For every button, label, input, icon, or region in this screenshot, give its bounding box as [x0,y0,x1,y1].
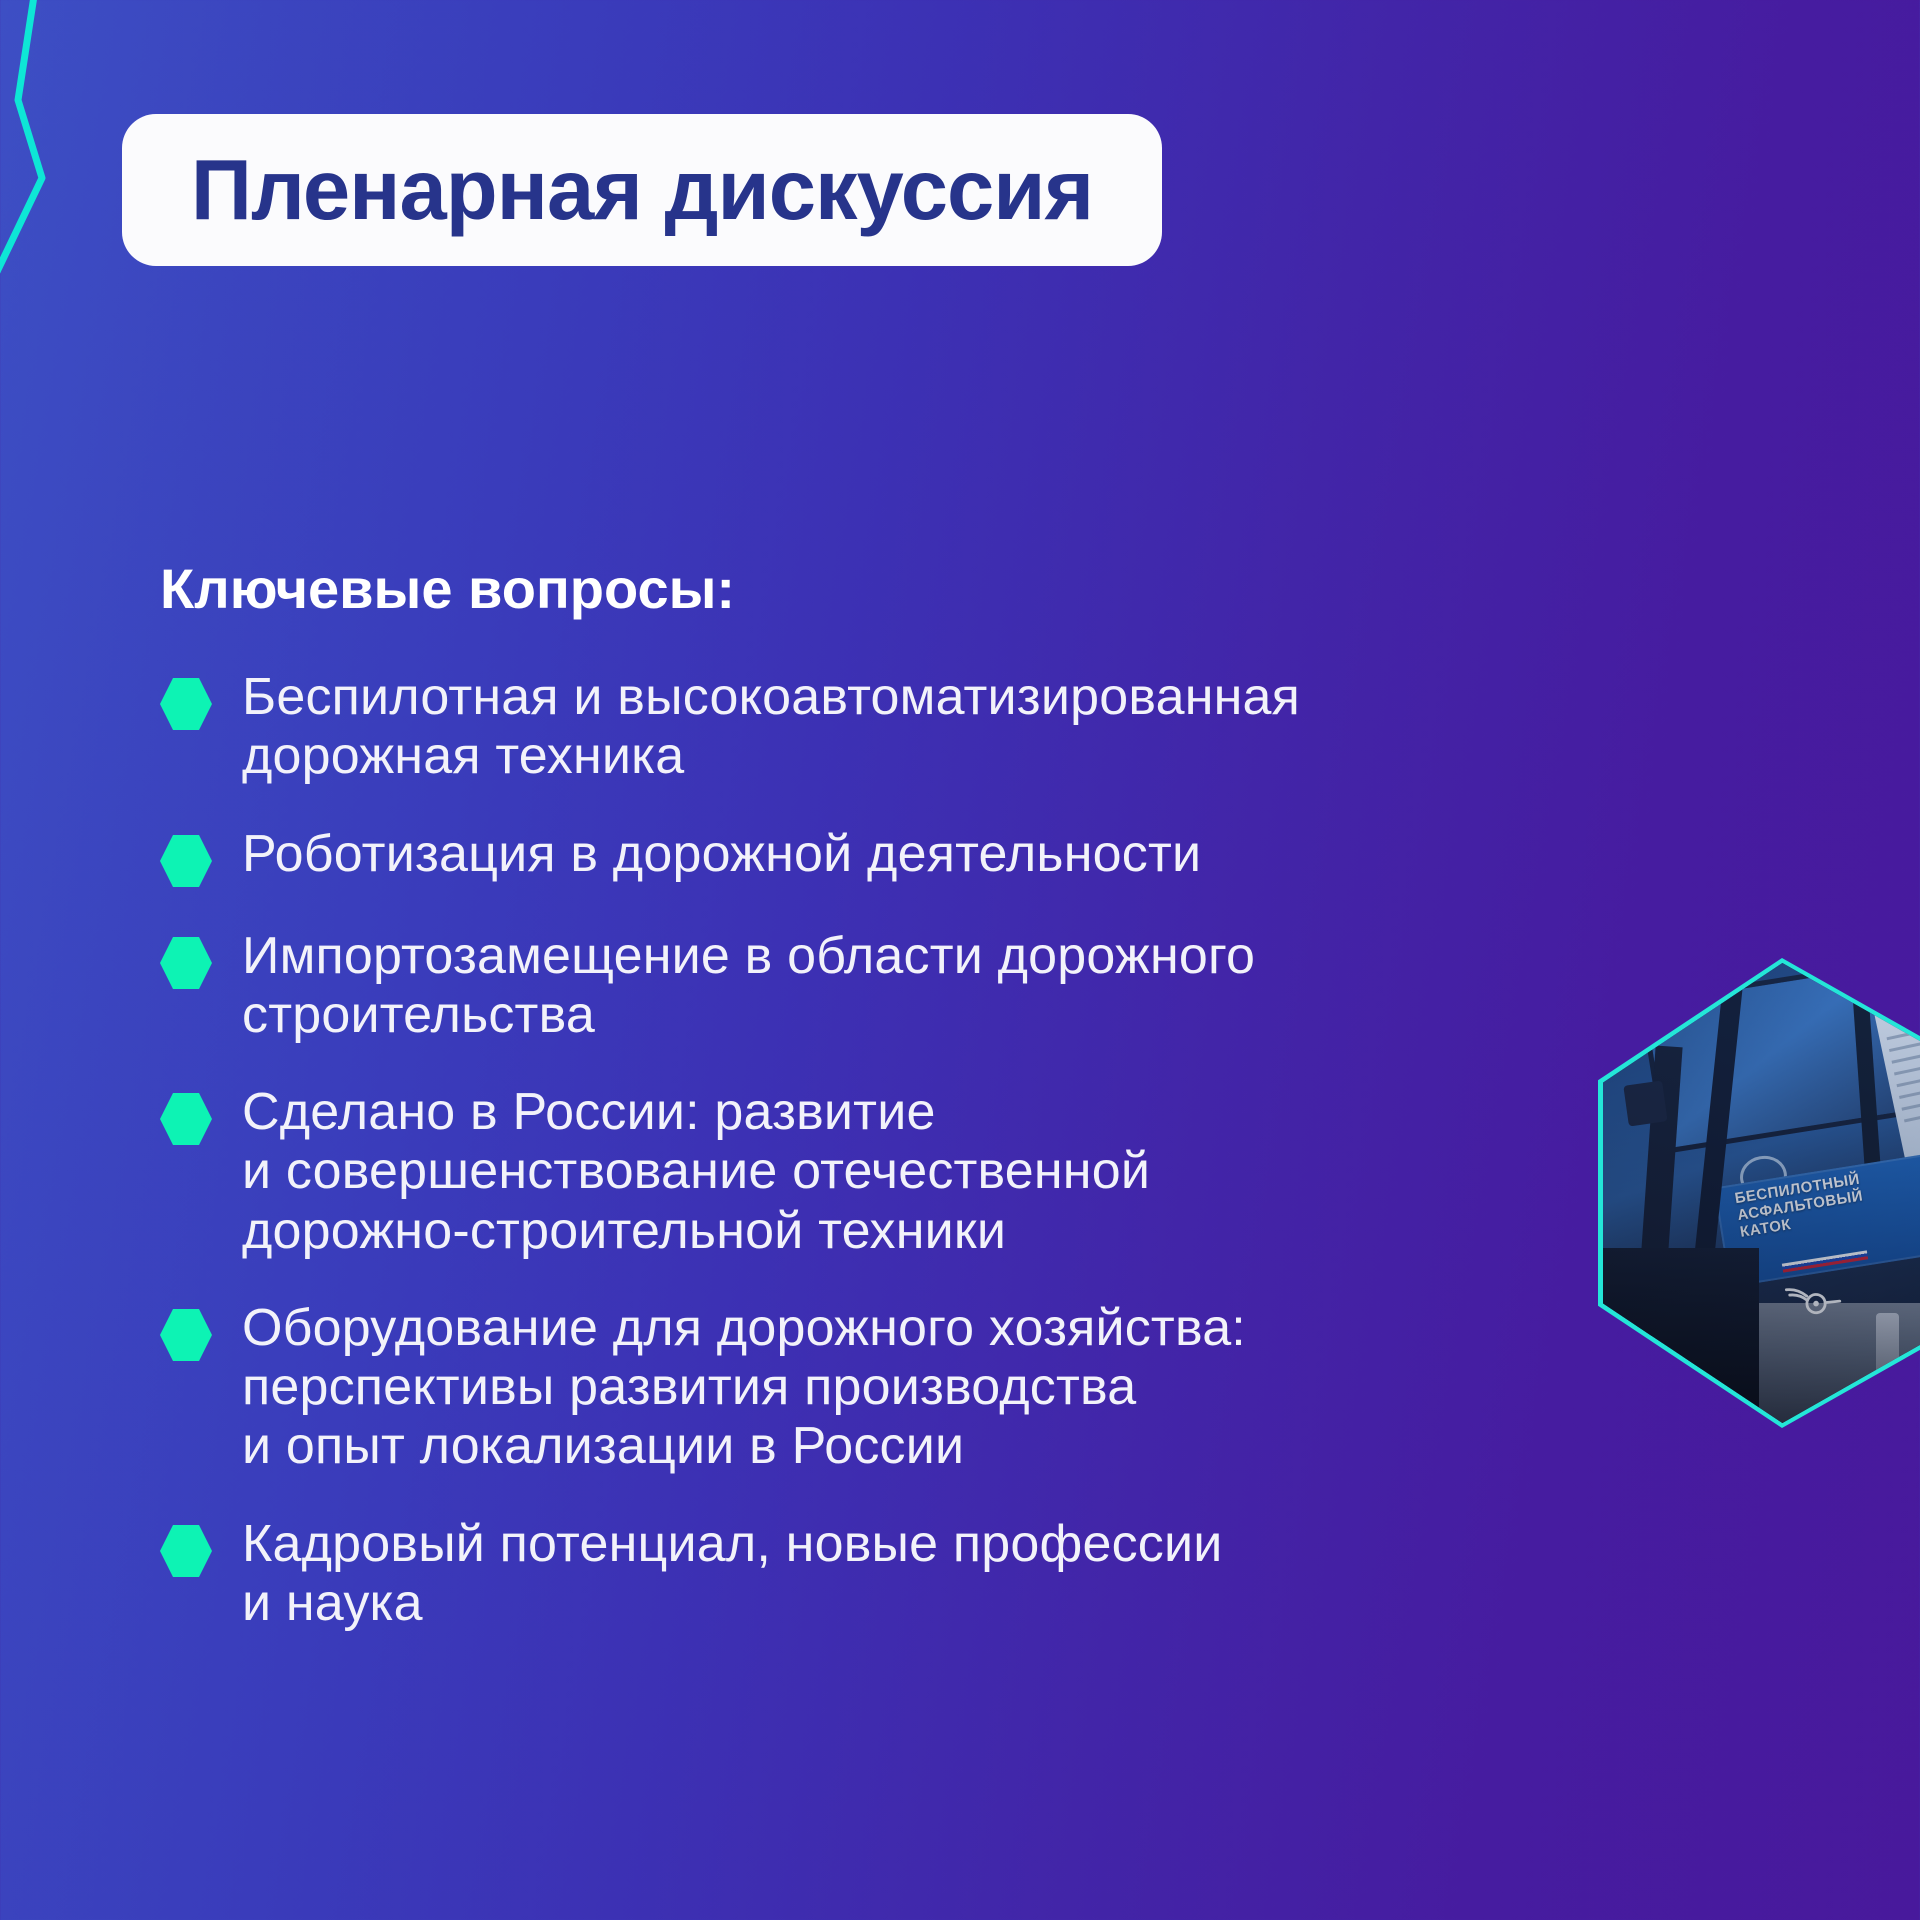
title-card: Пленарная дискуссия [122,114,1162,266]
list-item-label: Роботизация в дорожной деятельности [242,825,1201,884]
list-item: Импортозамещение в области дорожного стр… [160,927,1660,1046]
key-questions-heading: Ключевые вопросы: [160,556,735,621]
list-item: Сделано в России: развитие и совершенств… [160,1083,1660,1261]
hexagon-bullet-icon [160,1523,212,1579]
hexagon-bullet-icon [160,1091,212,1147]
list-item-label: Импортозамещение в области дорожного стр… [242,927,1255,1046]
list-item: Роботизация в дорожной деятельности [160,825,1660,889]
hexagon-bullet-icon [160,1307,212,1363]
page-title: Пленарная дискуссия [191,148,1093,233]
list-item: Беспилотная и высокоавтоматизированная д… [160,668,1660,787]
photo-glass-tint [1603,963,1920,1423]
hexagon-bullet-icon [160,935,212,991]
hexagon-photo-image: БЕСПИЛОТНЫЙ АСФАЛЬТОВЫЙ КАТОК [1603,963,1920,1423]
list-item-label: Сделано в России: развитие и совершенств… [242,1083,1150,1261]
hexagon-bullet-icon [160,833,212,889]
hexagon-photo: БЕСПИЛОТНЫЙ АСФАЛЬТОВЫЙ КАТОК [1598,958,1920,1428]
list-item-label: Беспилотная и высокоавтоматизированная д… [242,668,1300,787]
list-item-label: Оборудование для дорожного хозяйства: пе… [242,1299,1246,1477]
list-item: Оборудование для дорожного хозяйства: пе… [160,1299,1660,1477]
list-item-label: Кадровый потенциал, новые профессии и на… [242,1515,1222,1634]
hexagon-bullet-icon [160,676,212,732]
list-item: Кадровый потенциал, новые профессии и на… [160,1515,1660,1634]
key-questions-list: Беспилотная и высокоавтоматизированная д… [160,668,1660,1633]
